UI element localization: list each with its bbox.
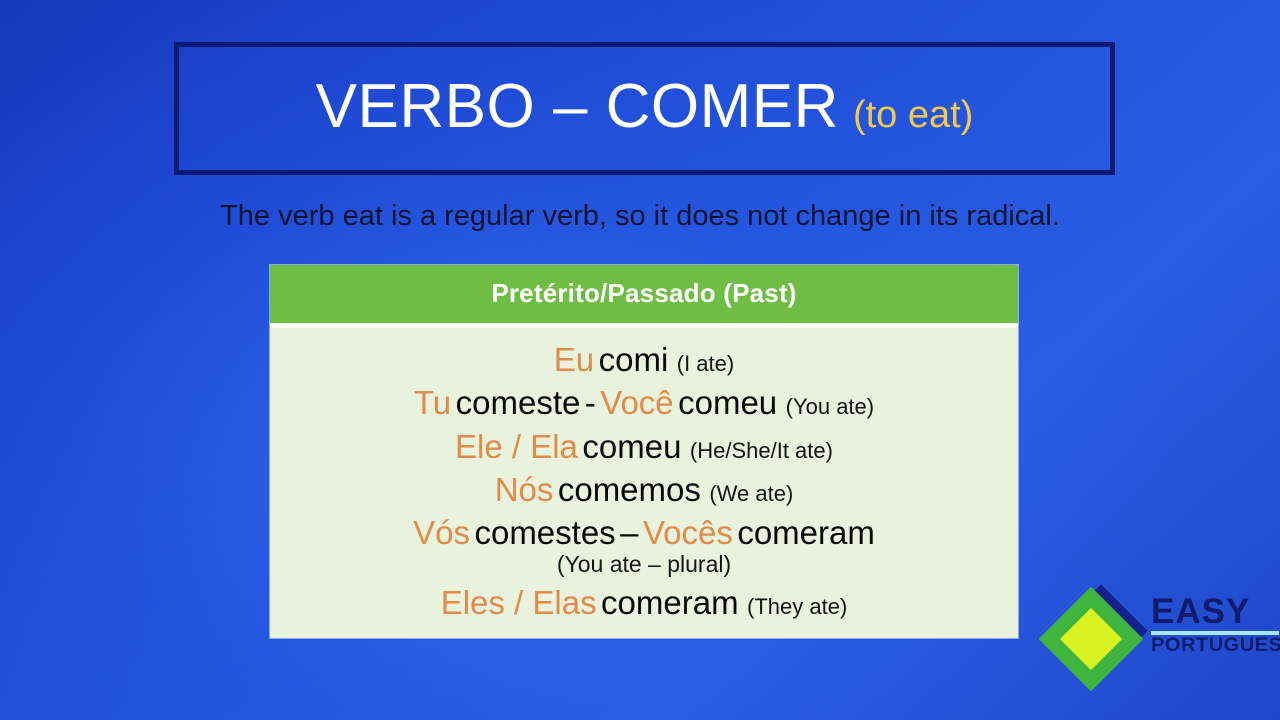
table-body: Eu comi (I ate) Tu comeste - Você comeu … [270,328,1018,638]
row-translation: (I ate) [677,351,734,376]
row-verb: comeram [601,584,739,621]
title-box: VERBO – COMER(to eat) [174,42,1115,175]
row-translation-below: (You ate – plural) [270,550,1018,577]
row-separator: – [620,514,638,551]
row-pronoun: Tu [414,384,451,421]
row-pronoun: Eles / Elas [441,584,597,621]
row-verb-alt: comeram [737,514,875,551]
logo-line-portuguese: PORTUGUESE [1151,636,1280,655]
row-translation: (They ate) [747,594,847,619]
row-translation: (He/She/It ate) [690,438,833,463]
easy-portuguese-logo: EASY PORTUGUESE [1035,578,1280,700]
table-row: Vós comestes – Vocês comeram (You ate – … [270,511,1018,581]
row-pronoun: Eu [554,341,594,378]
logo-diamond-icon [1040,582,1148,694]
row-verb: comemos [558,471,701,508]
row-pronoun: Vós [413,514,470,551]
row-verb-alt: comeu [678,384,777,421]
logo-line-easy: EASY [1151,594,1279,629]
row-verb: comeu [582,428,681,465]
row-verb: comi [599,341,669,378]
row-separator: - [585,384,596,421]
intro-text: The verb eat is a regular verb, so it do… [0,200,1280,233]
row-translation: (We ate) [709,481,793,506]
logo-wordmark: EASY PORTUGUESE [1151,594,1279,655]
row-pronoun: Ele / Ela [455,428,578,465]
slide-canvas: VERBO – COMER(to eat) The verb eat is a … [0,0,1280,720]
row-verb: comestes [474,514,615,551]
row-verb: comeste [456,384,581,421]
table-row: Tu comeste - Você comeu (You ate) [270,381,1018,424]
row-translation: (You ate) [786,394,874,419]
table-row: Eles / Elas comeram (They ate) [270,581,1018,624]
row-pronoun-alt: Vocês [643,514,733,551]
table-header: Pretérito/Passado (Past) [270,265,1018,323]
row-pronoun-alt: Você [600,384,673,421]
row-pronoun: Nós [495,471,554,508]
table-row: Ele / Ela comeu (He/She/It ate) [270,425,1018,468]
table-row: Nós comemos (We ate) [270,468,1018,511]
page-title: VERBO – COMER [316,72,839,141]
conjugation-table: Pretérito/Passado (Past) Eu comi (I ate)… [270,265,1018,638]
title-line: VERBO – COMER(to eat) [316,76,974,138]
table-row: Eu comi (I ate) [270,338,1018,381]
page-title-translation: (to eat) [853,94,973,136]
